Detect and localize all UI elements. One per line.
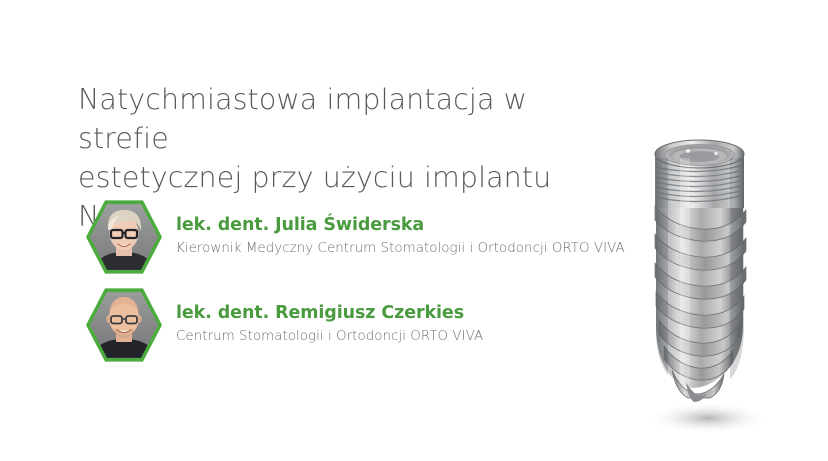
avatar bbox=[86, 286, 162, 364]
speaker-name: lek. dent. Remigiusz Czerkies bbox=[176, 302, 483, 324]
avatar bbox=[86, 198, 162, 276]
speaker-role: Kierownik Medyczny Centrum Stomatologii … bbox=[176, 239, 625, 259]
speakers-list: lek. dent. Julia Świderska Kierownik Med… bbox=[86, 193, 625, 369]
presentation-slide: Natychmiastowa implantacja w strefie est… bbox=[0, 0, 828, 461]
speaker-text: lek. dent. Julia Świderska Kierownik Med… bbox=[176, 214, 625, 261]
speaker-item: lek. dent. Julia Świderska Kierownik Med… bbox=[86, 193, 625, 281]
speaker-name: lek. dent. Julia Świderska bbox=[176, 214, 625, 236]
speaker-item: lek. dent. Remigiusz Czerkies Centrum St… bbox=[86, 281, 625, 369]
dental-implant-image bbox=[630, 130, 790, 440]
speaker-text: lek. dent. Remigiusz Czerkies Centrum St… bbox=[176, 302, 483, 349]
speaker-role: Centrum Stomatologii i Ortodoncji ORTO V… bbox=[176, 327, 483, 347]
